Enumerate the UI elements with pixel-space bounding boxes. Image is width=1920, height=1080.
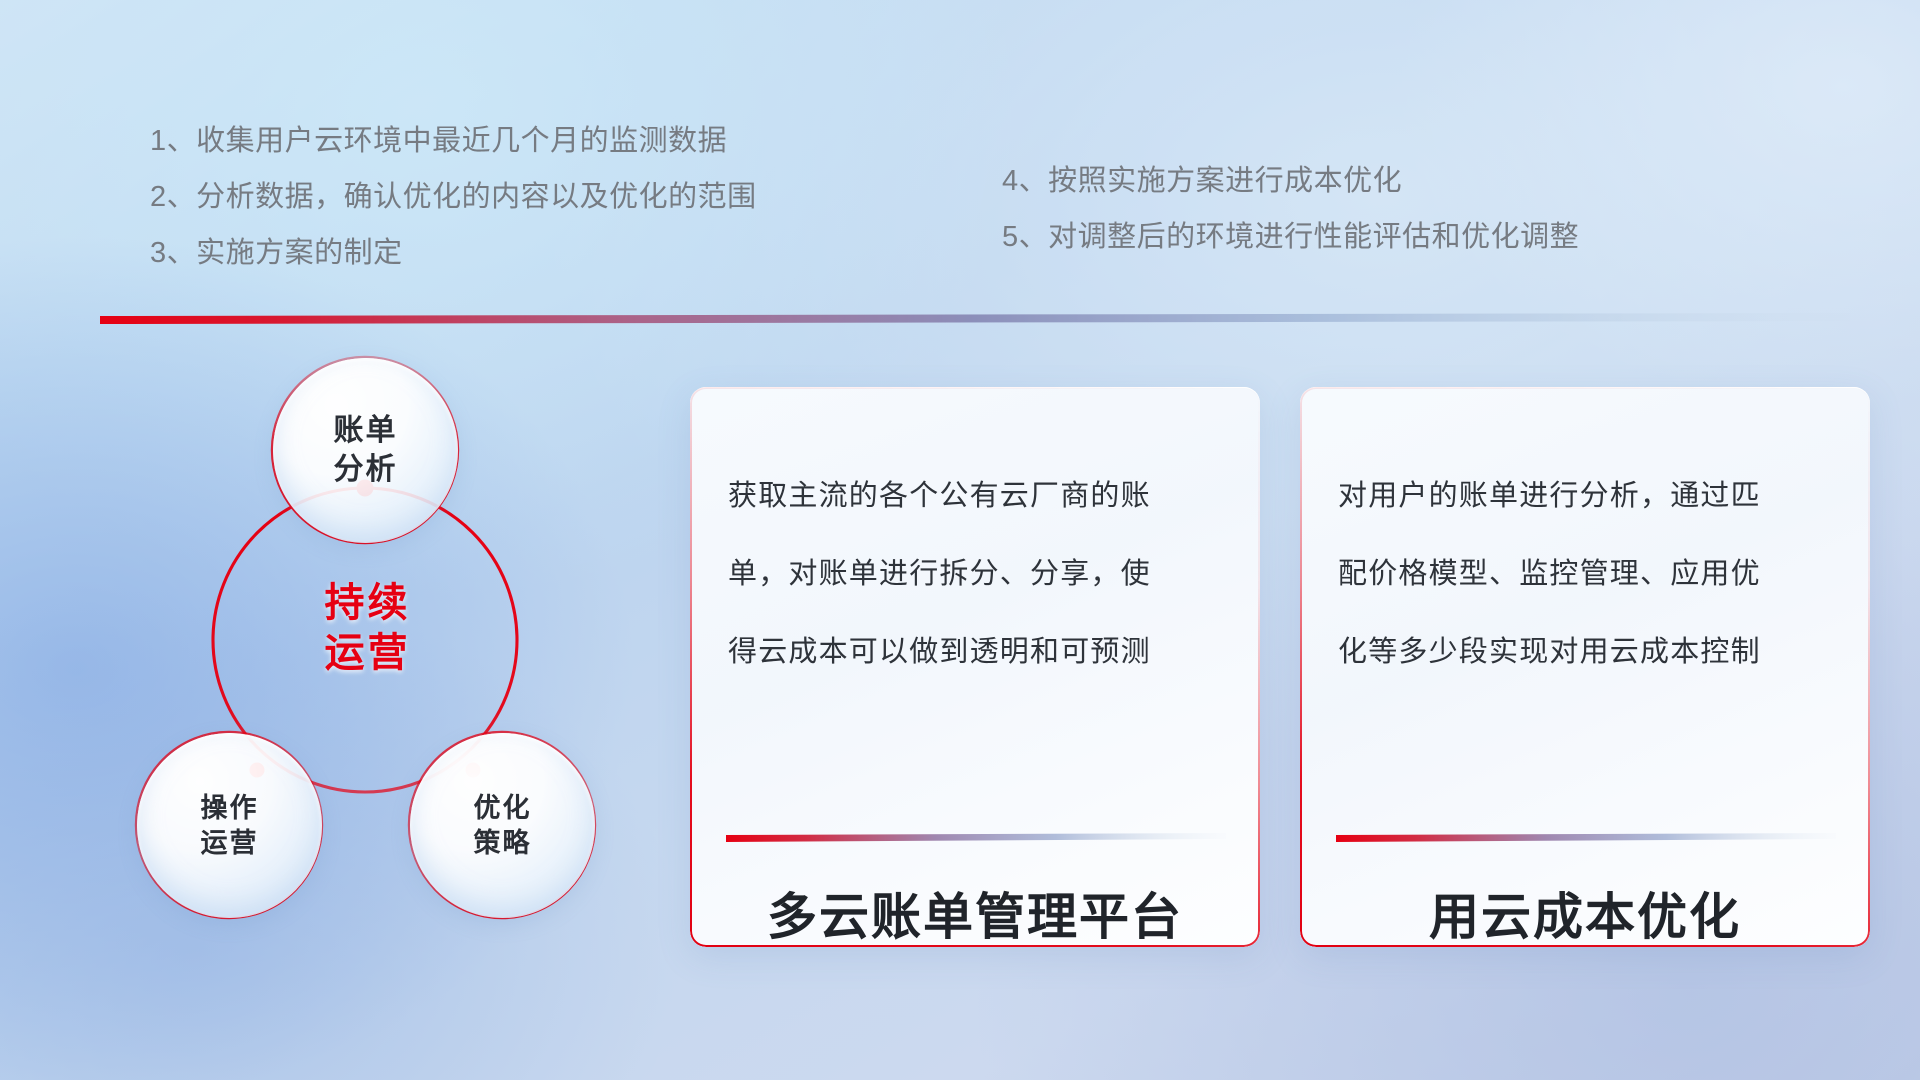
venn-center-label: 持续 运营 (280, 578, 455, 678)
slide-canvas: 1、收集用户云环境中最近几个月的监测数据 2、分析数据，确认优化的内容以及优化的… (0, 0, 1920, 1080)
venn-bubble-right-line1: 优化 (474, 791, 532, 826)
card-left-body-line1: 获取主流的各个公有云厂商的账 (728, 457, 1226, 535)
card-multi-cloud-billing[interactable]: 获取主流的各个公有云厂商的账 单，对账单进行拆分、分享，使 得云成本可以做到透明… (690, 387, 1260, 947)
card-left-body-line3: 得云成本可以做到透明和可预测 (728, 613, 1226, 691)
card-right-body-line3: 化等多少段实现对用云成本控制 (1338, 613, 1836, 691)
step-item-4: 4、按照实施方案进行成本优化 (1002, 153, 1579, 209)
venn-center-line1: 持续 (280, 578, 455, 628)
venn-bubble-billing-analysis[interactable]: 账单 分析 (273, 358, 458, 543)
card-right-title: 用云成本优化 (1300, 877, 1870, 947)
card-left-title: 多云账单管理平台 (690, 877, 1260, 947)
step-item-5: 5、对调整后的环境进行性能评估和优化调整 (1002, 209, 1579, 265)
step-item-1: 1、收集用户云环境中最近几个月的监测数据 (150, 113, 757, 169)
steps-left-column: 1、收集用户云环境中最近几个月的监测数据 2、分析数据，确认优化的内容以及优化的… (150, 113, 757, 281)
step-item-2: 2、分析数据，确认优化的内容以及优化的范围 (150, 169, 757, 225)
card-left-rule (726, 833, 1226, 842)
card-right-body: 对用户的账单进行分析，通过匹 配价格模型、监控管理、应用优 化等多少段实现对用云… (1338, 457, 1836, 691)
card-right-rule (1336, 833, 1836, 842)
venn-bubble-left-line2: 运营 (201, 826, 259, 861)
step-item-3: 3、实施方案的制定 (150, 225, 757, 281)
card-left-body: 获取主流的各个公有云厂商的账 单，对账单进行拆分、分享，使 得云成本可以做到透明… (728, 457, 1226, 691)
venn-bubble-operations[interactable]: 操作 运营 (137, 733, 322, 918)
card-right-body-line2: 配价格模型、监控管理、应用优 (1338, 535, 1836, 613)
venn-bubble-left-line1: 操作 (201, 791, 259, 826)
card-left-body-line2: 单，对账单进行拆分、分享，使 (728, 535, 1226, 613)
venn-bubble-top-line2: 分析 (334, 451, 398, 489)
venn-bubble-top-line1: 账单 (334, 412, 398, 450)
section-divider (100, 313, 1850, 324)
card-cloud-cost-optimization[interactable]: 对用户的账单进行分析，通过匹 配价格模型、监控管理、应用优 化等多少段实现对用云… (1300, 387, 1870, 947)
venn-bubble-right-line2: 策略 (474, 826, 532, 861)
card-right-body-line1: 对用户的账单进行分析，通过匹 (1338, 457, 1836, 535)
venn-center-line2: 运营 (280, 628, 455, 678)
venn-diagram: 账单 分析 操作 运营 优化 策略 持续 运营 (90, 350, 630, 950)
venn-bubble-optimization-strategy[interactable]: 优化 策略 (410, 733, 595, 918)
steps-right-column: 4、按照实施方案进行成本优化 5、对调整后的环境进行性能评估和优化调整 (1002, 153, 1579, 265)
